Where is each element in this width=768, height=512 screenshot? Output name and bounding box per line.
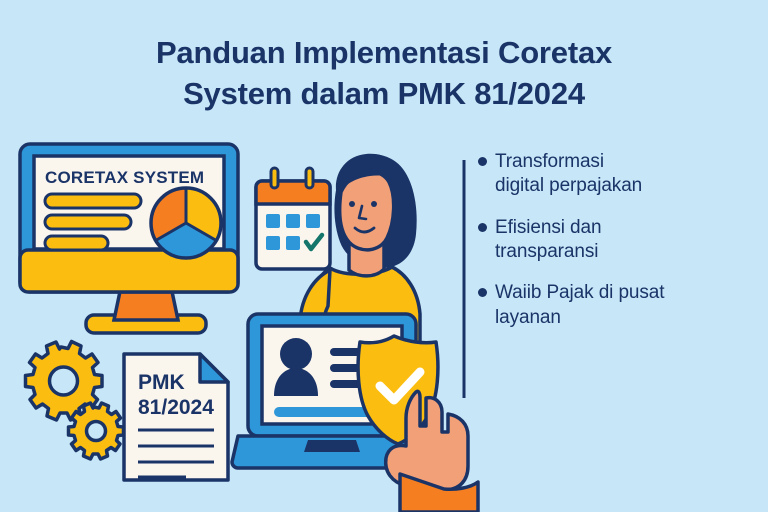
avatar-head <box>280 338 312 370</box>
bullet-text-1: Transformasi digital perpajakan <box>495 150 642 199</box>
bullet-list: Transformasi digital perpajakan Efisiens… <box>478 150 746 347</box>
bullet-text-3: Waiib Pajak di pusat layanan <box>495 281 664 330</box>
monitor-bar-1 <box>45 194 141 208</box>
document-fold-corner <box>200 354 228 382</box>
bullet-text-3-line-2: layanan <box>495 307 561 328</box>
monitor-illustration: CORETAX SYSTEM <box>20 144 238 333</box>
bullet-text-2-line-1: Efisiensi dan <box>495 217 601 238</box>
monitor-screen-title: CORETAX SYSTEM <box>45 168 204 187</box>
calendar-day-1 <box>266 214 280 228</box>
calendar-day-4 <box>266 236 280 250</box>
page-title: Panduan Implementasi Coretax System dala… <box>40 33 728 115</box>
document-title-line-1: PMK <box>138 371 185 394</box>
pie-chart <box>151 188 221 258</box>
infographic-canvas: Panduan Implementasi Coretax System dala… <box>0 0 768 512</box>
person-eye-left <box>349 201 355 207</box>
calendar-header <box>256 181 330 204</box>
monitor-bar-3 <box>45 236 108 250</box>
bullet-item-2: Efisiensi dan transparansi <box>478 216 746 265</box>
document-illustration: PMK 81/2024 <box>124 354 228 480</box>
bullet-item-1: Transformasi digital perpajakan <box>478 150 746 199</box>
monitor-bar-2 <box>45 215 131 229</box>
calendar-day-2 <box>286 214 300 228</box>
gear-small-icon <box>69 403 124 459</box>
document-title-line-2: 81/2024 <box>138 396 214 419</box>
calendar-ring-right <box>306 168 313 188</box>
laptop-trackpad <box>304 440 360 452</box>
bullet-text-3-line-1: Waiib Pajak di pusat <box>495 282 664 303</box>
bullet-marker-icon <box>478 157 487 166</box>
calendar-day-5 <box>286 236 300 250</box>
bullet-text-2: Efisiensi dan transparansi <box>495 216 601 265</box>
calendar-day-3 <box>306 214 320 228</box>
calendar-ring-left <box>271 168 278 188</box>
page-title-line-1: Panduan Implementasi Coretax <box>40 33 728 74</box>
page-title-line-2: System dalam PMK 81/2024 <box>40 74 728 115</box>
bullet-text-1-line-1: Transformasi <box>495 151 604 172</box>
bullet-item-3: Waiib Pajak di pusat layanan <box>478 281 746 330</box>
bullet-text-1-line-2: digital perpajakan <box>495 175 642 196</box>
bullet-marker-icon <box>478 288 487 297</box>
gears-illustration <box>26 342 124 460</box>
calendar-illustration <box>256 168 330 269</box>
bullet-text-2-line-2: transparansi <box>495 241 598 262</box>
bullet-marker-icon <box>478 223 487 232</box>
person-eye-right <box>371 201 377 207</box>
monitor-bezel <box>20 250 238 292</box>
